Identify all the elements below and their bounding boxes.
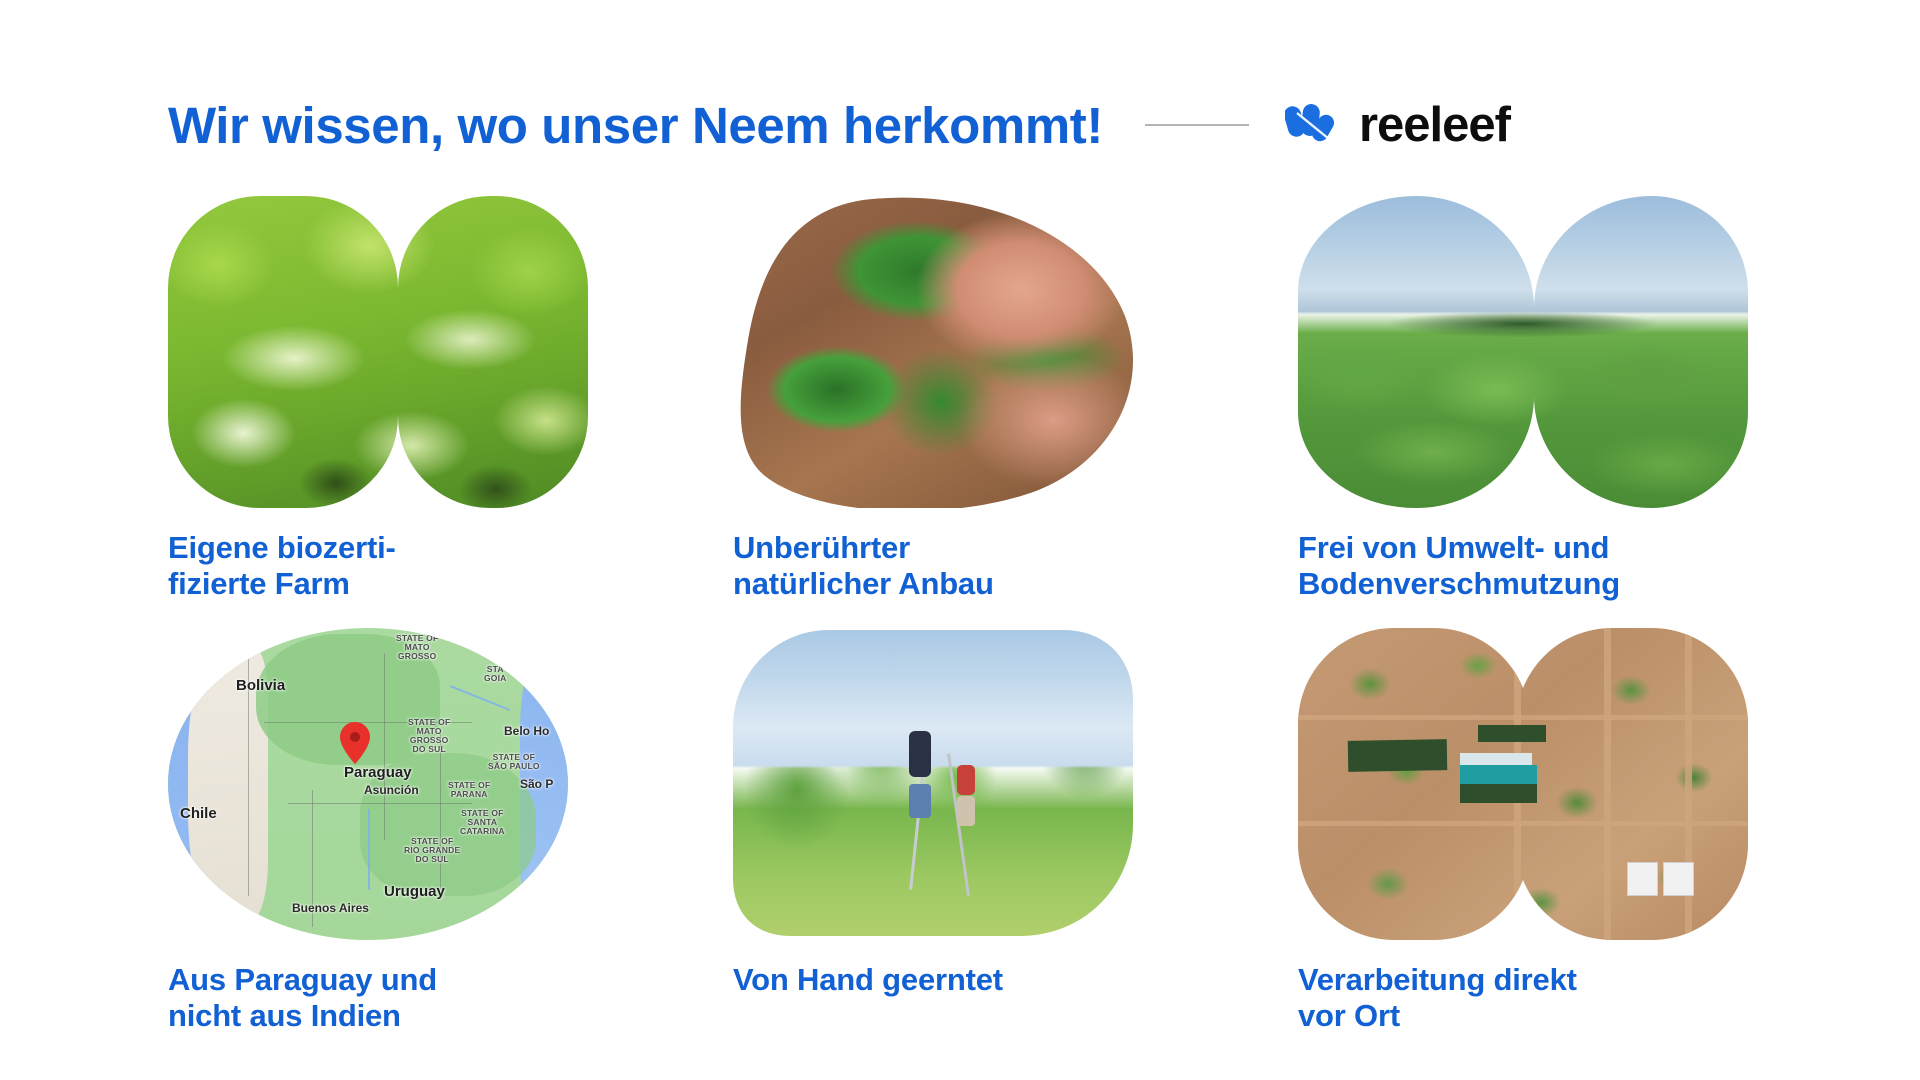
card-image-neem-leaf: [733, 196, 1133, 508]
horizontal-rule-divider-icon: [1145, 124, 1249, 126]
map-label-state-mato-grosso: STATE OF MATO GROSSO: [396, 634, 438, 661]
map-label-state-sao-paulo: STATE OF SÃO PAULO: [488, 753, 540, 771]
location-pin-icon[interactable]: [340, 722, 370, 764]
card-image-hand-harvest: [733, 628, 1133, 940]
feature-card-hand-harvested: Von Hand geerntet: [733, 628, 1153, 1034]
map-label-state-parana: STATE OF PARANA: [448, 781, 490, 799]
card-caption: Unberührter natürlicher Anbau: [733, 530, 1153, 602]
reeleef-leaf-mark-icon: [1285, 102, 1341, 148]
map-label-sao-paulo-city: São P: [520, 778, 553, 791]
feature-grid: Eigene biozerti- fizierte Farm Unberührt…: [168, 196, 1768, 1034]
map-label-chile: Chile: [180, 806, 217, 822]
card-caption: Frei von Umwelt- und Bodenverschmutzung: [1298, 530, 1778, 602]
card-image-aerial-farm: [1298, 628, 1748, 940]
feature-card-processing-on-site: Verarbeitung direkt vor Ort: [1298, 628, 1778, 1034]
page-header: Wir wissen, wo unser Neem herkommt! reel…: [168, 92, 1754, 158]
map-label-buenos-aires: Buenos Aires: [292, 902, 369, 915]
map-label-paraguay: Paraguay: [344, 765, 412, 781]
map-river: [450, 685, 510, 711]
map-label-state-rio-grande-sul: STATE OF RIO GRANDE DO SUL: [404, 837, 460, 864]
card-image-neem-grove: [1298, 196, 1748, 508]
feature-card-free-of-pollution: Frei von Umwelt- und Bodenverschmutzung: [1298, 196, 1778, 602]
map-label-asuncion: Asunción: [364, 784, 419, 797]
map-label-state-mato-grosso-sul: STATE OF MATO GROSSO DO SUL: [408, 718, 450, 754]
promo-infographic-page: Wir wissen, wo unser Neem herkommt! reel…: [0, 0, 1920, 1080]
brand-logo[interactable]: reeleef: [1285, 101, 1510, 150]
map-label-uruguay: Uruguay: [384, 884, 445, 900]
feature-card-from-paraguay: Bolivia Chile Paraguay Uruguay Asunción …: [168, 628, 588, 1034]
feature-card-untouched-cultivation: Unberührter natürlicher Anbau: [733, 196, 1153, 602]
brand-name: reeleef: [1359, 101, 1510, 150]
map-border-line: [384, 653, 385, 840]
map-label-bolivia: Bolivia: [236, 678, 285, 694]
card-caption: Verarbeitung direkt vor Ort: [1298, 962, 1778, 1034]
page-title: Wir wissen, wo unser Neem herkommt!: [168, 100, 1103, 151]
map-river: [368, 809, 370, 890]
map-border-line: [440, 734, 441, 890]
card-caption: Eigene biozerti- fizierte Farm: [168, 530, 588, 602]
card-image-neem-nursery: [168, 196, 588, 508]
card-image-paraguay-map[interactable]: Bolivia Chile Paraguay Uruguay Asunción …: [168, 628, 568, 940]
map-label-state-santa-catarina: STATE OF SANTA CATARINA: [460, 809, 505, 836]
feature-card-own-organic-farm: Eigene biozerti- fizierte Farm: [168, 196, 588, 602]
map-canvas: Bolivia Chile Paraguay Uruguay Asunción …: [168, 628, 568, 940]
map-border-line: [288, 803, 472, 804]
card-caption: Aus Paraguay und nicht aus Indien: [168, 962, 588, 1034]
map-label-state-goias: STA GOIA: [484, 665, 507, 683]
card-caption: Von Hand geerntet: [733, 962, 1153, 998]
map-label-belo-horizonte: Belo Ho: [504, 725, 549, 738]
